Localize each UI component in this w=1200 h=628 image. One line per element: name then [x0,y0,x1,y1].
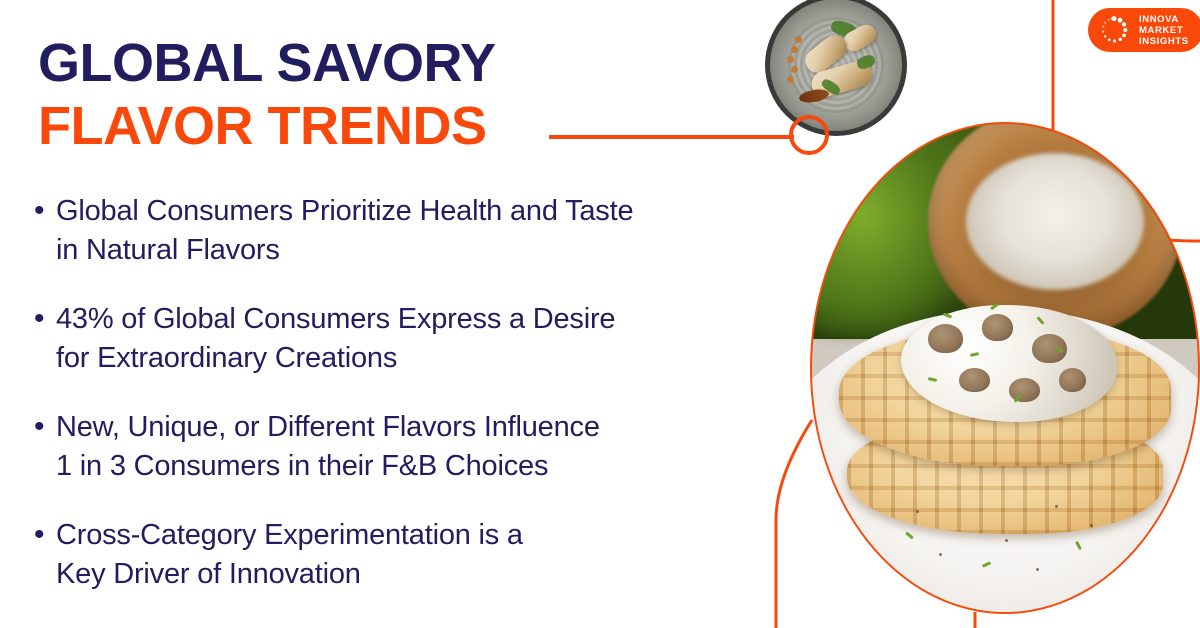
list-item: • New, Unique, or Different Flavors Infl… [28,408,788,486]
pepper-speck [1036,568,1039,571]
bullet-marker-icon: • [28,192,56,230]
innova-dot-ring-icon [1098,14,1130,46]
chickpea [795,36,802,43]
page-title: GLOBAL SAVORY FLAVOR TRENDS [38,36,496,153]
mushroom-piece [1009,378,1040,402]
logo-wordmark: INNOVA MARKET INSIGHTS [1139,14,1189,47]
chickpea [787,56,794,63]
pepper-speck [1055,505,1058,508]
mushroom-piece [982,314,1013,341]
list-item: • Global Consumers Prioritize Health and… [28,192,788,270]
mushroom-piece [959,368,990,392]
bowl-contents [966,153,1144,290]
list-item-text: Cross-Category Experimentation is a Key … [56,516,523,594]
innova-market-insights-logo[interactable]: INNOVA MARKET INSIGHTS [1088,8,1200,52]
savory-waffles-photo [810,122,1200,614]
chickpea [791,66,798,73]
list-item-text: 43% of Global Consumers Express a Desire… [56,300,615,378]
mushroom-piece [1059,368,1086,392]
key-points-list: • Global Consumers Prioritize Health and… [28,192,788,594]
bullet-marker-icon: • [28,300,56,338]
list-item-text: Global Consumers Prioritize Health and T… [56,192,633,270]
list-item: • Cross-Category Experimentation is a Ke… [28,516,788,594]
list-item-text: New, Unique, or Different Flavors Influe… [56,408,600,486]
title-line-primary: GLOBAL SAVORY [38,36,496,90]
wraps-plate-photo [765,0,907,136]
list-item: • 43% of Global Consumers Express a Desi… [28,300,788,378]
pepper-speck [916,510,919,513]
title-connector-line [549,135,794,139]
chickpea [791,46,798,53]
pepper-speck [1005,539,1008,542]
chickpea [787,76,794,83]
poster-canvas: GLOBAL SAVORY FLAVOR TRENDS • Global Con… [0,0,1200,628]
bullet-marker-icon: • [28,408,56,446]
bullet-marker-icon: • [28,516,56,554]
title-line-secondary: FLAVOR TRENDS [38,99,496,153]
mushroom-piece [928,324,963,353]
plate-highlight-circle [789,115,829,155]
